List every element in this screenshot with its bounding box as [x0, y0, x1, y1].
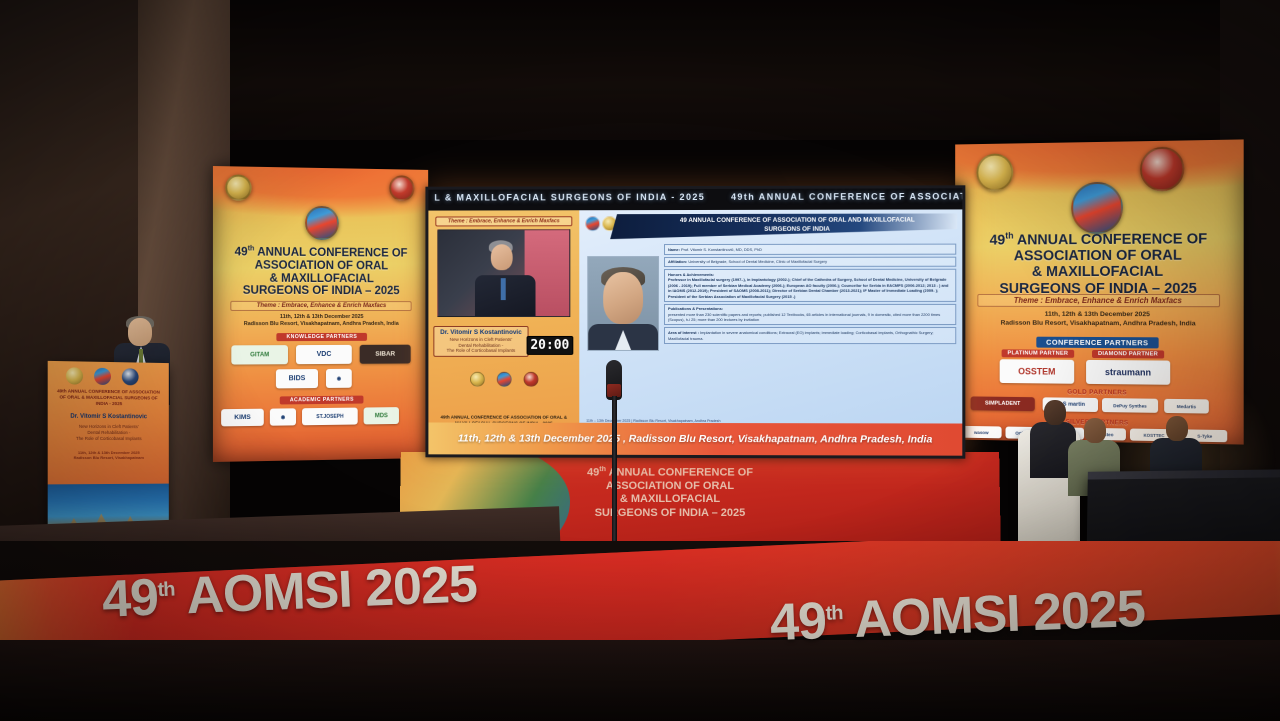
logo-depuy-synthes: DePuy Synthes [1102, 398, 1158, 413]
speaker-portrait-photo [587, 256, 659, 351]
podium-talk-line-1: New Horizons in Cleft Patients' [79, 424, 139, 429]
speaker-head [128, 318, 152, 346]
podium-conference-title: 49th ANNUAL CONFERENCE OF ASSOCIATION OF… [54, 388, 163, 407]
screen-ticker-bar: L & MAXILLOFACIAL SURGEONS OF INDIA - 20… [428, 188, 962, 210]
speaker-info-panel: Theme : Embrace, Enhance & Enrich Maxfac… [428, 210, 579, 429]
podium-meta-line-2: Radisson Blu Resort, Visakhapatnam [74, 455, 144, 460]
panelist-3-head [1044, 400, 1066, 425]
venue-text-right: Radisson Blu Resort, Visakhapatnam, Andh… [1001, 320, 1196, 328]
aomsi-crest-icon-right [976, 153, 1013, 191]
slide-header-line-1: 49 ANNUAL CONFERENCE OF ASSOCIATION OF O… [680, 217, 915, 224]
banner-left-theme: Theme : Embrace, Enhance & Enrich Maxfac… [231, 301, 412, 311]
slide-header-line-2: SURGEONS OF INDIA [764, 226, 830, 233]
slide-header-text: 49 ANNUAL CONFERENCE OF ASSOCIATION OF O… [658, 216, 936, 235]
feed-speaker-tie [501, 278, 506, 300]
association-crest-icon-right [1140, 147, 1184, 192]
slide-header: 49 ANNUAL CONFERENCE OF ASSOCIATION OF O… [582, 212, 959, 240]
podium-talk-line-3: The Role of Corticobasal Implants [76, 436, 142, 441]
banner-right-dates: 11th, 12th & 13th December 2025 Radisson… [966, 310, 1231, 329]
field-interest-value: Implantation in severe anatomical condit… [668, 330, 934, 341]
panel-footer-line-1: 49th ANNUAL CONFERENCE OF ASSOCIATION OF… [441, 415, 567, 420]
live-camera-feed [437, 229, 570, 317]
platinum-partner-label: PLATINUM PARTNER [1002, 349, 1075, 357]
backdrop-banner-left: 49th ANNUAL CONFERENCE OF ASSOCIATION OF… [213, 166, 428, 462]
logo-osstem: OSSTEM [1000, 359, 1075, 384]
dates-text: 11th, 12th & 13th December 2025 [280, 314, 364, 320]
portrait-face [603, 272, 643, 324]
podium-crest-icon-1 [66, 367, 83, 384]
panel-crest-row [428, 372, 579, 387]
podium-meta: 11th, 12th & 13th December 2025 Radisson… [54, 450, 163, 460]
logo-st-joseph: ST.JOSEPH [302, 408, 358, 426]
field-name: Name: Prof. Vitomir S. Konstantinovič, M… [664, 244, 956, 255]
field-publications-label: Publications & Presentations: [668, 306, 723, 311]
academic-partners-label: ACADEMIC PARTNERS [280, 396, 364, 405]
crest-icon-1 [470, 372, 485, 387]
title-line-2: ASSOCIATION OF ORAL [255, 259, 388, 272]
podium-crest-icon-3 [122, 368, 139, 385]
ticker-text-right: 49th ANNUAL CONFERENCE OF ASSOCIATION OF… [731, 191, 962, 202]
crest-icon-3 [523, 372, 538, 387]
speaker-name: Dr. Vitomir S Kostantinovic [435, 329, 526, 336]
logo-medartis: Medartis [1164, 399, 1209, 414]
logo-simpladent: SIMPLADENT [971, 396, 1035, 411]
field-affiliation: Affiliation: University of Belgrade, Sch… [664, 256, 956, 267]
fascia-right-suffix: th [825, 602, 843, 625]
field-honors: Honors & Achievements: Professor in Maxi… [664, 269, 956, 302]
podium-talk-title: New Horizons in Cleft Patients' Dental R… [56, 424, 161, 442]
field-name-label: Name: [668, 247, 680, 252]
logo-wasow: wasow [961, 426, 1002, 439]
screen-body: Theme : Embrace, Enhance & Enrich Maxfac… [428, 209, 962, 429]
conference-logo-icon [305, 206, 339, 240]
lower-backdrop-title: 49th ANNUAL CONFERENCE OF ASSOCIATION OF… [520, 466, 820, 520]
field-interest-label: Area of Interest : [668, 330, 699, 335]
banner-left-dates: 11th, 12th & 13th December 2025 Radisson… [222, 314, 420, 329]
panelist-2-head [1166, 416, 1188, 441]
logo-mds: MDS [364, 407, 399, 424]
diamond-partner-label: DIAMOND PARTNER [1092, 350, 1164, 359]
fascia-left-name: AOMSI 2025 [185, 555, 478, 625]
field-honors-value: Professor in Maxillofacial surgery (1997… [668, 277, 948, 299]
conference-stage: 49th ANNUAL CONFERENCE OF ASSOCIATION OF… [0, 0, 1280, 721]
banner-right-theme: Theme : Embrace, Enhance & Enrich Maxfac… [978, 294, 1220, 307]
knowledge-partners-label: KNOWLEDGE PARTNERS [276, 333, 367, 341]
logo-sibar: SIBAR [360, 345, 411, 364]
banner-left-title: 49th ANNUAL CONFERENCE OF ASSOCIATION OF… [222, 245, 420, 298]
title-line-2-right: ASSOCIATION OF ORAL [1014, 248, 1182, 265]
crest-icon-2 [496, 372, 511, 387]
countdown-timer[interactable]: 20:00 [526, 336, 573, 355]
logo-bids: BIDS [276, 369, 318, 388]
field-honors-label: Honors & Achievements: [668, 272, 714, 277]
edition-suffix: th [248, 245, 255, 252]
edition-suffix-right: th [1005, 231, 1013, 241]
slide-field-list: Name: Prof. Vitomir S. Konstantinovič, M… [664, 242, 956, 352]
logo-straumann: straumann [1086, 360, 1170, 385]
title-line-1-right: ANNUAL CONFERENCE OF [1017, 231, 1207, 248]
podium-talk-line-2: Dental Rehabilitation - [87, 430, 130, 435]
field-affiliation-label: Affiliation: [668, 259, 687, 264]
logo-ntruhs: ◉ [326, 369, 352, 388]
title-line-3: & MAXILLOFACIAL [269, 272, 373, 284]
venue-text: Radisson Blu Resort, Visakhapatnam, Andh… [244, 321, 399, 327]
lectern-podium: 49th ANNUAL CONFERENCE OF ASSOCIATION OF… [48, 361, 169, 543]
title-line-4: SURGEONS OF INDIA – 2025 [243, 285, 400, 297]
panel-theme-badge: Theme : Embrace, Enhance & Enrich Maxfac… [435, 216, 572, 226]
logo-kims: KIMS [221, 409, 264, 427]
edition-number: 49 [235, 246, 248, 258]
gold-partners-label: GOLD PARTNERS [1057, 388, 1137, 398]
edition-number-right: 49 [990, 232, 1006, 248]
podium-crest-icon-2 [94, 368, 111, 385]
association-crest-icon [389, 175, 414, 201]
led-presentation-screen[interactable]: L & MAXILLOFACIAL SURGEONS OF INDIA - 20… [425, 185, 965, 458]
fascia-right-name: AOMSI 2025 [853, 580, 1146, 649]
backdrop-banner-right: 49th ANNUAL CONFERENCE OF ASSOCIATION OF… [955, 139, 1243, 444]
slide-content: Name: Prof. Vitomir S. Konstantinovič, M… [582, 240, 959, 352]
logo-gitam: GITAM [231, 345, 288, 364]
conference-logo-icon-right [1071, 182, 1123, 235]
talk-title-line-3: The Role of Corticobasal Implants [435, 348, 526, 354]
logo-gsl: ◉ [270, 408, 296, 425]
panelist-1-head [1084, 418, 1106, 443]
fascia-left-suffix: th [157, 578, 175, 601]
speaker-name-card: Dr. Vitomir S Kostantinovic New Horizons… [433, 326, 528, 357]
fascia-right-edition: 49 [769, 592, 827, 652]
banner-right-title: 49th ANNUAL CONFERENCE OF ASSOCIATION OF… [966, 229, 1231, 297]
slide-header-swoosh: 49 ANNUAL CONFERENCE OF ASSOCIATION OF O… [610, 213, 957, 239]
dates-text-right: 11th, 12th & 13th December 2025 [1045, 311, 1150, 318]
field-publications: Publications & Presentations: presented … [664, 304, 956, 326]
ticker-text-left: L & MAXILLOFACIAL SURGEONS OF INDIA - 20… [434, 192, 705, 203]
field-name-value: Prof. Vitomir S. Konstantinovič, MD, DDS… [681, 246, 762, 251]
aomsi-crest-icon [225, 174, 251, 201]
field-affiliation-value: University of Belgrade, School of Dental… [688, 259, 827, 264]
slide-logo-conference-icon [585, 216, 600, 231]
title-line-3-right: & MAXILLOFACIAL [1032, 264, 1163, 280]
field-publications-value: presented more than 230 scientific paper… [668, 312, 940, 323]
title-line-1: ANNUAL CONFERENCE OF [257, 246, 407, 259]
podium-speaker-name: Dr. Vitomir S Kostantinovic [54, 414, 163, 421]
feed-speaker-head [491, 244, 513, 270]
fascia-left-edition: 49 [101, 569, 159, 629]
stage-floor [0, 640, 1280, 721]
screen-caption-strip: 11th, 12th & 13th December 2025 , Radiss… [428, 422, 962, 455]
field-interest: Area of Interest : Implantation in sever… [664, 327, 956, 343]
logo-vdc: VDC [296, 345, 352, 364]
conference-partners-label: CONFERENCE PARTNERS [1036, 337, 1158, 349]
caption-text: 11th, 12th & 13th December 2025 , Radiss… [458, 433, 932, 446]
